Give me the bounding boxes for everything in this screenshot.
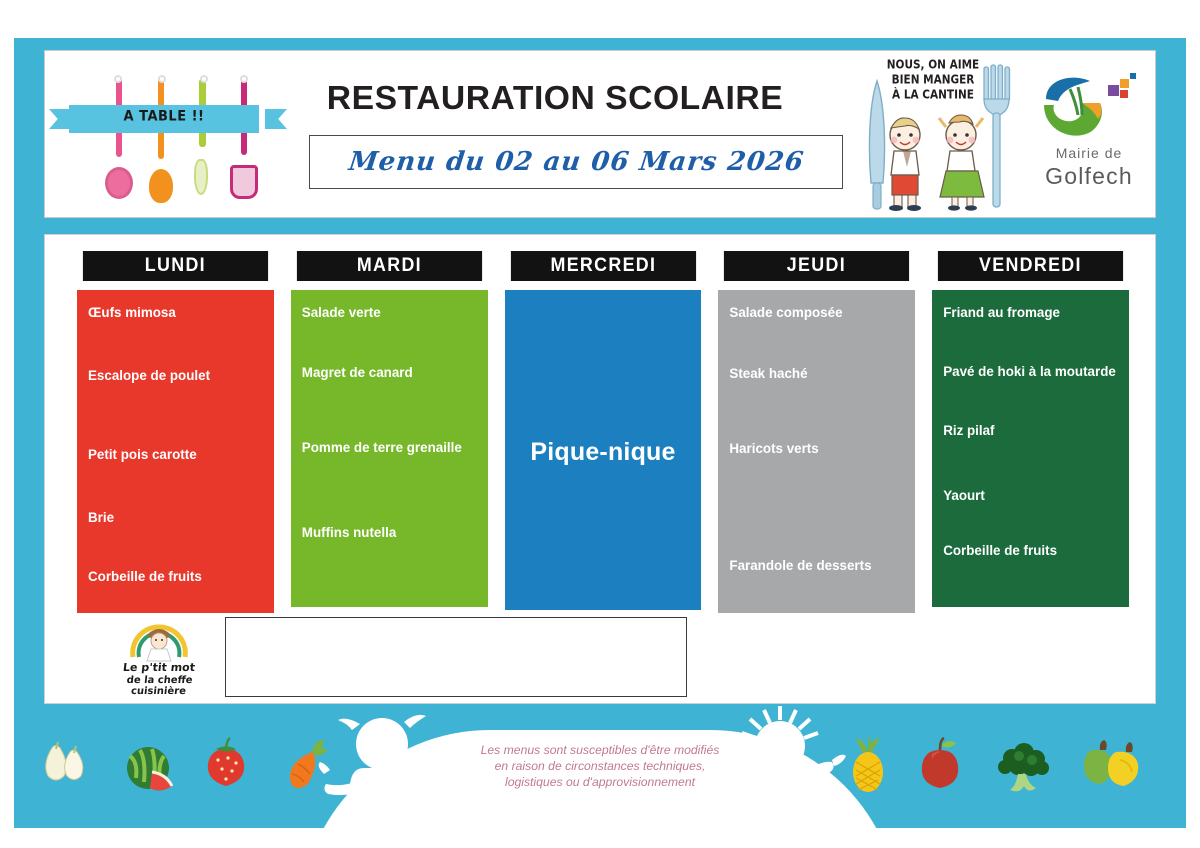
a-table-ribbon: A TABLE !! [69, 105, 259, 133]
dish-item: Pique-nique [530, 444, 675, 461]
dish-item: Steak haché [729, 365, 904, 382]
day-header-mercredi: MERCREDI [510, 251, 695, 281]
dish-list-jeudi: Salade composée Steak haché Haricots ver… [718, 290, 915, 613]
a-table-label: A TABLE !! [69, 108, 259, 125]
dish-item: Œufs mimosa [88, 304, 263, 321]
pineapple-icon [844, 736, 894, 794]
poster-footer: Les menus sont susceptibles d'être modif… [14, 704, 1186, 828]
day-column-lundi: LUNDI Œufs mimosa Escalope de poulet Pet… [77, 251, 274, 613]
a-table-graphic: A TABLE !! [63, 61, 273, 211]
day-header-vendredi: VENDREDI [938, 251, 1123, 281]
logo-line-1: Mairie de [1030, 145, 1148, 161]
golfech-town-logo-icon: Mairie de Golfech [1030, 69, 1148, 201]
day-column-vendredi: VENDREDI Friand au fromage Pavé de hoki … [932, 251, 1129, 613]
dish-list-mardi: Salade verte Magret de canard Pomme de t… [291, 290, 488, 607]
day-column-jeudi: JEUDI Salade composée Steak haché Harico… [718, 251, 915, 613]
chef-note-row: Le p'tit mot de la cheffe cuisinière [77, 617, 1129, 699]
bell-peppers-icon [1074, 736, 1150, 790]
page-title: RESTAURATION SCOLAIRE [269, 79, 840, 117]
dish-item: Salade composée [729, 304, 904, 321]
dish-item: Haricots verts [729, 440, 904, 457]
week-grid: LUNDI Œufs mimosa Escalope de poulet Pet… [77, 251, 1129, 613]
strawberry-icon [202, 736, 250, 788]
chef-caption-line-2: de la cheffe cuisinière [98, 675, 220, 697]
chef-caption-line-1: Le p'tit mot [98, 661, 219, 674]
day-header-mardi: MARDI [297, 251, 482, 281]
chef-note-textbox[interactable] [225, 617, 687, 697]
dish-list-lundi: Œufs mimosa Escalope de poulet Petit poi… [77, 290, 274, 613]
dish-item: Muffins nutella [302, 524, 477, 541]
day-column-mardi: MARDI Salade verte Magret de canard Pomm… [291, 251, 488, 613]
dish-item: Salade verte [302, 304, 477, 321]
slogan-line-1: NOUS, ON AIME [871, 58, 995, 73]
logo-line-2: Golfech [1030, 163, 1148, 190]
menu-date-text: Menu du 02 au 06 Mars 2026 [347, 147, 806, 177]
day-column-mercredi: MERCREDI Pique-nique [505, 251, 702, 613]
dish-item: Pomme de terre grenaille [302, 439, 477, 456]
disclaimer-line-3: logistiques ou d'approvisionnement [400, 774, 800, 790]
kids-slogan-graphic: NOUS, ON AIME BIEN MANGER À LA CANTINE [845, 57, 1015, 215]
dish-list-mercredi: Pique-nique [505, 290, 702, 610]
menu-poster: A TABLE !! RESTAURATION SCOLAIRE Menu du… [14, 38, 1186, 828]
dish-item: Yaourt [943, 487, 1118, 504]
garlic-icon [38, 740, 90, 786]
poster-body: LUNDI Œufs mimosa Escalope de poulet Pet… [44, 234, 1156, 704]
dish-list-vendredi: Friand au fromage Pavé de hoki à la mout… [932, 290, 1129, 607]
disclaimer-line-1: Les menus sont susceptibles d'être modif… [400, 742, 800, 758]
dish-item: Pavé de hoki à la moutarde [943, 363, 1118, 380]
chef-cook-avatar-icon: Le p'tit mot de la cheffe cuisinière [99, 619, 219, 697]
broccoli-icon [994, 742, 1052, 794]
dish-item: Farandole de desserts [729, 557, 904, 574]
menu-date-box: Menu du 02 au 06 Mars 2026 [309, 135, 843, 189]
dish-item: Brie [88, 509, 263, 526]
day-header-jeudi: JEUDI [724, 251, 909, 281]
title-block: RESTAURATION SCOLAIRE Menu du 02 au 06 M… [275, 79, 835, 189]
poster-header: A TABLE !! RESTAURATION SCOLAIRE Menu du… [44, 50, 1156, 218]
disclaimer-line-2: en raison de circonstances techniques, [400, 758, 800, 774]
dish-item: Petit pois carotte [88, 446, 263, 463]
dish-item: Magret de canard [302, 364, 477, 381]
dish-item: Corbeille de fruits [88, 568, 263, 585]
dish-item: Corbeille de fruits [943, 542, 1118, 559]
boy-illustration-icon [879, 115, 935, 211]
ribbon-tail-left [49, 109, 71, 129]
footer-disclaimer: Les menus sont susceptibles d'être modif… [400, 742, 800, 790]
dish-item: Escalope de poulet [88, 367, 263, 384]
apple-icon [914, 736, 968, 790]
girl-illustration-icon [933, 113, 993, 211]
watermelon-icon [122, 744, 178, 794]
dish-item: Friand au fromage [943, 304, 1118, 321]
dish-item: Riz pilaf [943, 422, 1118, 439]
day-header-lundi: LUNDI [83, 251, 268, 281]
